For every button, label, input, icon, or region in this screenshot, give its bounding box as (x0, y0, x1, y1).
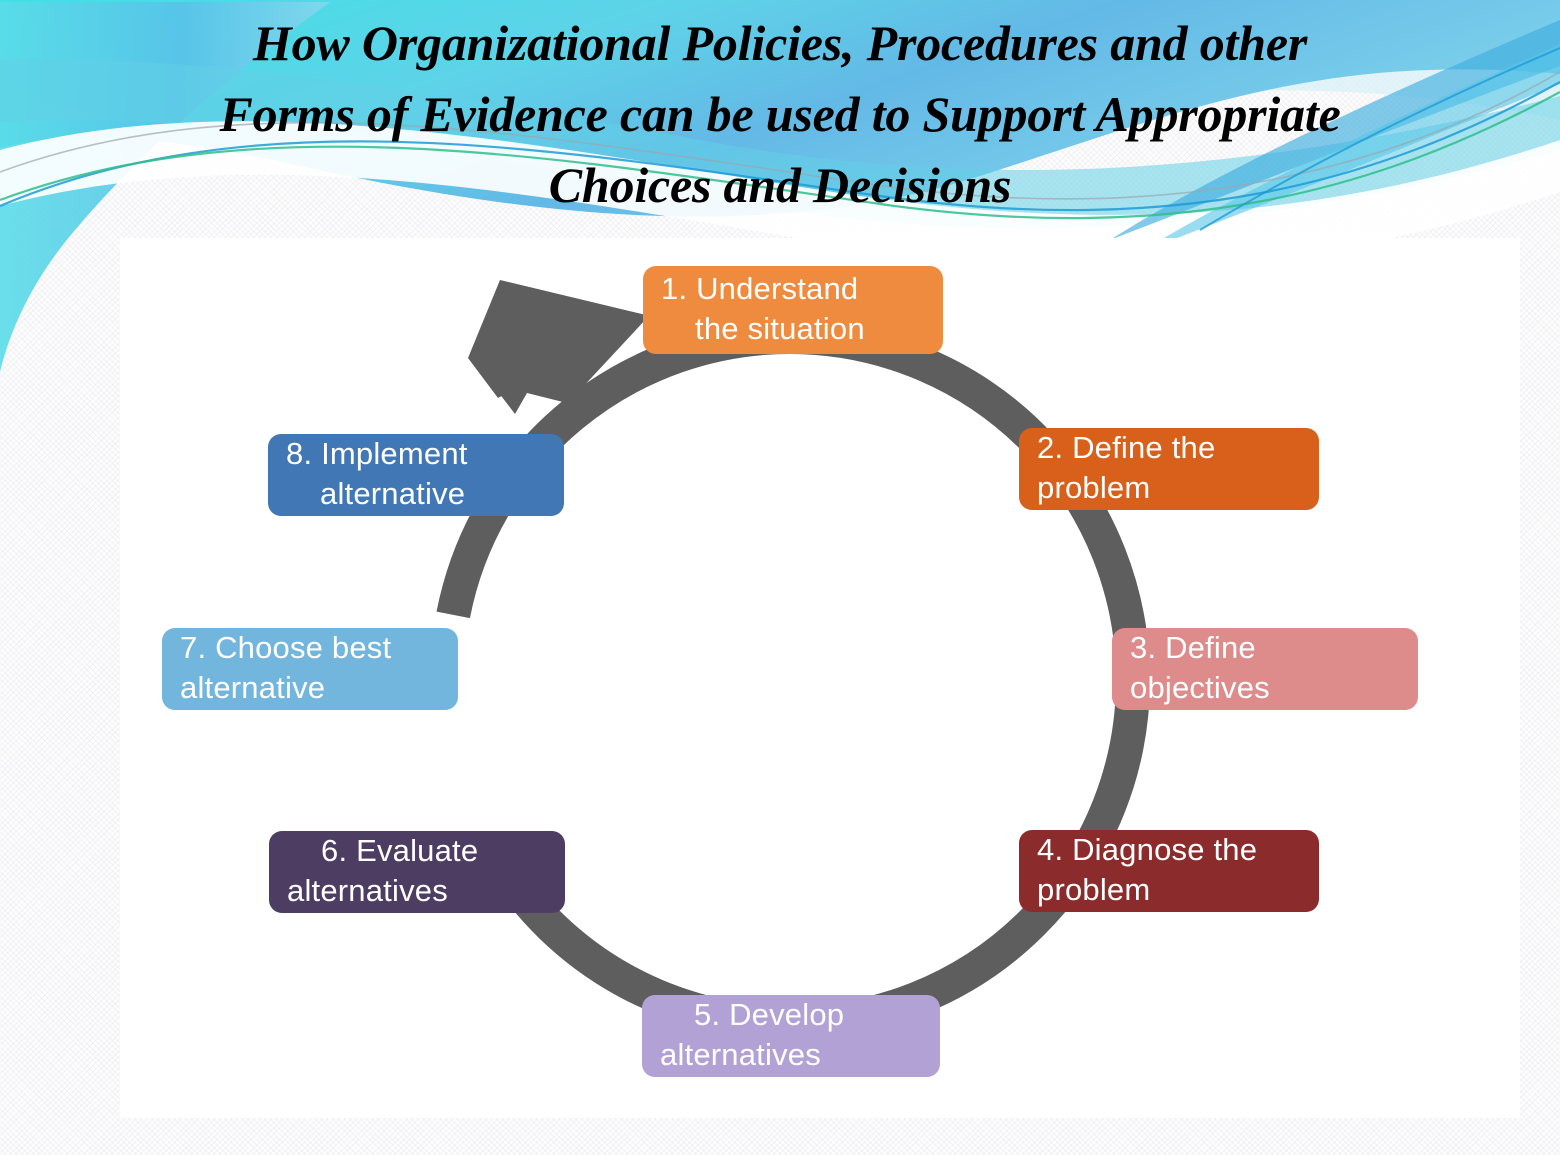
decision-cycle-diagram: 1. Understand the situation 2. Define th… (120, 238, 1520, 1118)
title-line-2: Forms of Evidence can be used to Support… (60, 79, 1500, 150)
cycle-step-4-label: 4. Diagnose the problem (1037, 830, 1257, 911)
slide-canvas: How Organizational Policies, Procedures … (0, 0, 1560, 1155)
cycle-step-3-label: 3. Define objectives (1130, 628, 1270, 709)
cycle-step-5[interactable]: 5. Develop alternatives (642, 995, 940, 1077)
cycle-step-7[interactable]: 7. Choose best alternative (162, 628, 458, 710)
cycle-step-3[interactable]: 3. Define objectives (1112, 628, 1418, 710)
cycle-step-2[interactable]: 2. Define the problem (1019, 428, 1319, 510)
cycle-step-8-label: 8. Implement alternative (286, 434, 468, 515)
title-line-3: Choices and Decisions (60, 150, 1500, 221)
cycle-step-6-label: 6. Evaluate alternatives (287, 831, 478, 912)
cycle-step-1[interactable]: 1. Understand the situation (643, 266, 943, 354)
cycle-step-6[interactable]: 6. Evaluate alternatives (269, 831, 565, 913)
slide-title: How Organizational Policies, Procedures … (60, 8, 1500, 221)
cycle-step-1-label: 1. Understand the situation (661, 269, 865, 350)
cycle-step-8[interactable]: 8. Implement alternative (268, 434, 564, 516)
cycle-step-5-label: 5. Develop alternatives (660, 995, 844, 1076)
cycle-step-7-label: 7. Choose best alternative (180, 628, 391, 709)
cycle-step-4[interactable]: 4. Diagnose the problem (1019, 830, 1319, 912)
cycle-step-2-label: 2. Define the problem (1037, 428, 1215, 509)
title-line-1: How Organizational Policies, Procedures … (60, 8, 1500, 79)
